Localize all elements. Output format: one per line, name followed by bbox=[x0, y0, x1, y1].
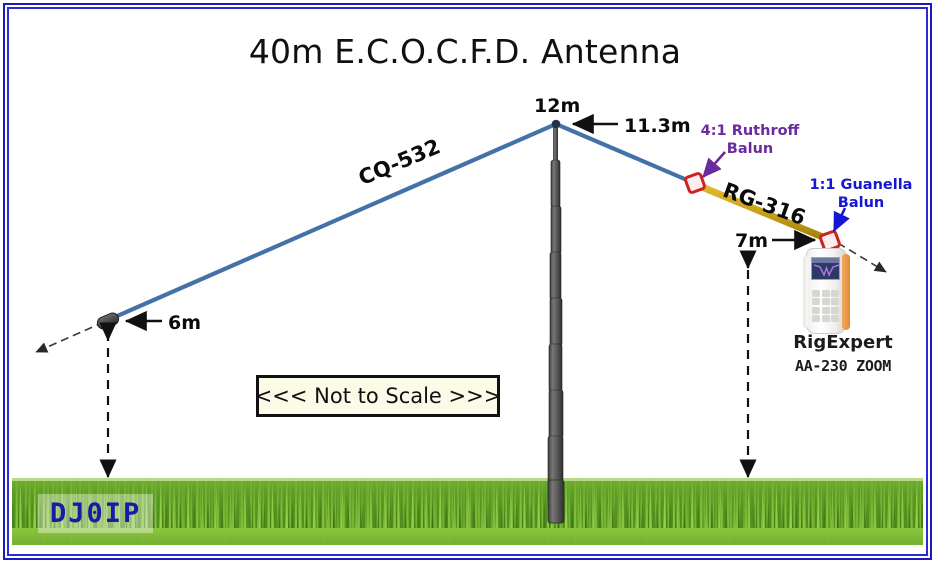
wire-continuation-left bbox=[36, 322, 104, 352]
callsign-watermark: DJ0IP bbox=[38, 494, 153, 533]
not-to-scale-note: <<< Not to Scale >>> bbox=[256, 375, 500, 417]
device-right-trim bbox=[842, 254, 850, 330]
telescopic-mast bbox=[548, 120, 564, 523]
callout-guanella-balun: 1:1 Guanella Balun bbox=[806, 176, 916, 212]
diagram-canvas: 40m E.C.O.C.F.D. Antenna 12m 11.3m 6m 7m… bbox=[0, 0, 935, 563]
device-keypad bbox=[812, 290, 839, 322]
callout-guanella-line2: Balun bbox=[806, 194, 916, 212]
device-screen bbox=[811, 257, 840, 280]
ruthroff-balun-connector bbox=[685, 173, 706, 194]
callout-guanella-line1: 1:1 Guanella bbox=[806, 176, 916, 194]
not-to-scale-text: <<< Not to Scale >>> bbox=[255, 384, 502, 408]
end-insulator-left bbox=[96, 311, 121, 331]
label-left-end-height: 6m bbox=[168, 312, 201, 334]
callout-ruthroff-line1: 4:1 Ruthroff bbox=[700, 122, 800, 140]
device-brand-label: RigExpert bbox=[768, 332, 918, 353]
antenna-diagram-svg bbox=[0, 0, 935, 563]
callout-ruthroff-balun: 4:1 Ruthroff Balun bbox=[700, 122, 800, 158]
device-swr-curve bbox=[814, 263, 839, 277]
label-leg-length: 11.3m bbox=[624, 115, 691, 137]
antenna-analyzer-device bbox=[800, 248, 852, 334]
device-left-trim bbox=[803, 256, 808, 328]
device-model-label: AA-230 ZOOM bbox=[768, 357, 918, 375]
label-mast-height: 12m bbox=[534, 95, 580, 117]
callout-ruthroff-line2: Balun bbox=[700, 140, 800, 158]
page-title: 40m E.C.O.C.F.D. Antenna bbox=[205, 32, 725, 71]
label-feedpoint-height: 7m bbox=[735, 230, 768, 252]
